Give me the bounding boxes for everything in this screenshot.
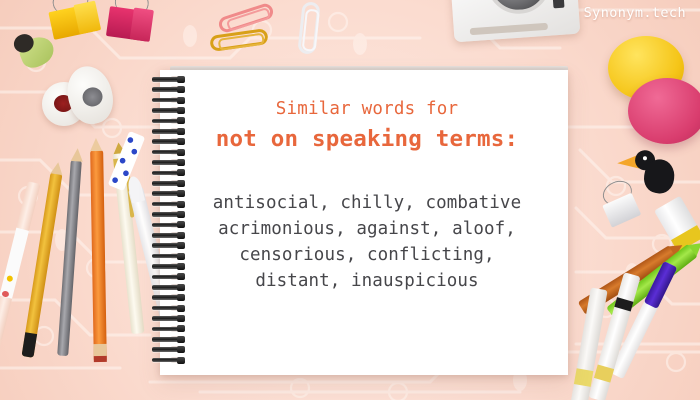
synonym-line: censorious, conflicting,: [213, 242, 521, 268]
camera-grip: [470, 23, 548, 35]
page-content: Similar words for not on speaking terms:…: [178, 88, 556, 358]
camera-lens-icon: [484, 0, 552, 16]
synonym-line: distant, inauspicious: [213, 268, 521, 294]
synonym-line: antisocial, chilly, combative: [213, 190, 521, 216]
screenshot-stage: Similar words for not on speaking terms:…: [0, 0, 700, 400]
macaron-pink: [628, 78, 700, 144]
synonym-line: acrimonious, against, aloof,: [213, 216, 521, 242]
binder-clip-pink: [105, 0, 169, 50]
synonym-list: antisocial, chilly, combative acrimoniou…: [213, 190, 521, 294]
camera-button: [553, 0, 565, 8]
heading-line-1: Similar words for: [216, 98, 518, 120]
heading-line-2: not on speaking terms:: [216, 124, 518, 154]
site-logo[interactable]: Synonym.tech: [584, 5, 686, 21]
page-heading: Similar words for not on speaking terms:: [216, 88, 518, 154]
